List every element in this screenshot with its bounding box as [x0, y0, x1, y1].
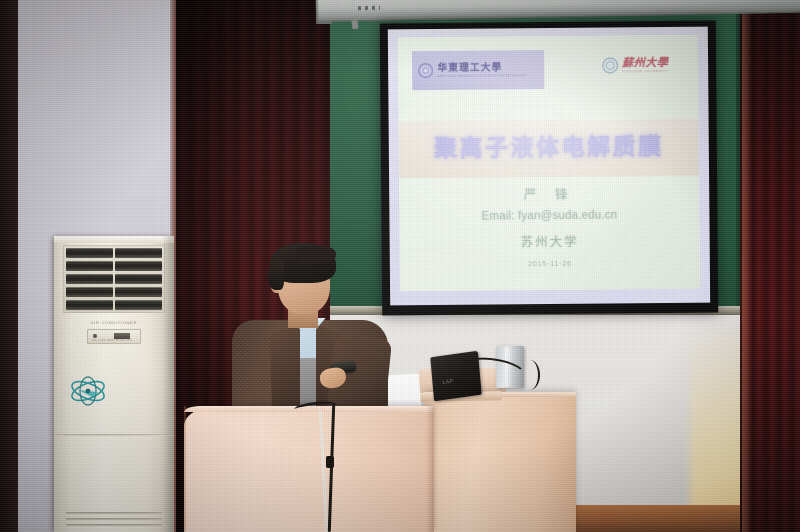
slide-email: Email: fyan@suda.edu.cn [481, 209, 617, 224]
university-logo-banner-left: 华東理工大學 EAST CHINA UNIVERSITY OF SCIENCE … [411, 50, 543, 91]
ac-top-edge [54, 236, 174, 243]
spiral-seal-icon [418, 63, 433, 78]
ac-louver [115, 287, 162, 297]
cable-clip [326, 456, 334, 468]
ac-bottom-vents [66, 506, 162, 526]
ac-vent-slat [66, 524, 162, 526]
ac-panel-seam [54, 434, 174, 436]
wooden-lectern [184, 406, 434, 532]
lectern-crease [184, 406, 186, 532]
housing-vent-dots [358, 6, 380, 10]
screen-surface: 华東理工大學 EAST CHINA UNIVERSITY OF SCIENCE … [388, 27, 710, 306]
circular-seal-icon [602, 58, 618, 74]
housing-mount-hook [351, 20, 358, 30]
floor-standing-air-conditioner: AIR CONDITIONER ON / OFF TEMP MODE FAN [54, 236, 174, 532]
power-led-icon [93, 334, 97, 338]
laptop-badge: LAP [442, 378, 453, 386]
ac-panel-labels: ON / OFF TEMP MODE FAN [92, 339, 138, 342]
logo-right-name-cn: 蘇州大學 [622, 57, 669, 69]
ac-louver [66, 300, 113, 310]
university-logo-right: 蘇州大學 SOOCHOW UNIVERSITY [602, 46, 695, 85]
ac-vent-slat [66, 518, 162, 520]
slide-title: 聚离子液体电解质膜 [434, 134, 664, 162]
slide-body-block: 严 锋 Email: fyan@suda.edu.cn 苏州大学 2015-11… [399, 187, 700, 270]
ac-control-panel[interactable]: ON / OFF TEMP MODE FAN [87, 329, 141, 344]
ac-louver [66, 274, 113, 284]
logo-right-name-en: SOOCHOW UNIVERSITY [622, 69, 668, 73]
logo-left-text: 华東理工大學 EAST CHINA UNIVERSITY OF SCIENCE … [438, 63, 528, 78]
slide-affiliation: 苏州大学 [521, 234, 579, 250]
curtain-highlight [742, 0, 752, 532]
slide-date: 2015-11-26 [528, 259, 572, 268]
ac-louver [115, 300, 162, 310]
ac-louver-column [66, 248, 113, 310]
jacket-lapel-left [270, 324, 300, 410]
logo-left-name-cn: 华東理工大學 [438, 63, 528, 74]
lectern-right-edge [426, 406, 434, 532]
logo-right-text: 蘇州大學 SOOCHOW UNIVERSITY [622, 57, 669, 73]
ac-louver-column [115, 248, 162, 310]
ac-louver [66, 287, 113, 297]
logo-left-name-en: EAST CHINA UNIVERSITY OF SCIENCE AND TEC… [438, 74, 528, 78]
ac-louver [66, 248, 113, 258]
projection-screen: 华東理工大學 EAST CHINA UNIVERSITY OF SCIENCE … [380, 21, 719, 316]
side-desk [424, 392, 576, 532]
ac-louver [115, 248, 162, 258]
atom-orbit-icon [68, 374, 108, 408]
lecture-hall-photograph: 华東理工大學 EAST CHINA UNIVERSITY OF SCIENCE … [0, 0, 800, 532]
ac-louver [115, 261, 162, 271]
ac-brand-text: AIR CONDITIONER [54, 320, 174, 325]
power-cable [520, 360, 540, 390]
projected-slide: 华東理工大學 EAST CHINA UNIVERSITY OF SCIENCE … [398, 35, 700, 292]
presenter-hair-side [268, 260, 284, 290]
ac-louver [115, 274, 162, 284]
slide-title-band: 聚离子液体电解质膜 [399, 119, 699, 179]
ac-vent-slat [66, 512, 162, 514]
ac-side-shading [162, 236, 174, 532]
ac-air-grille [63, 245, 165, 313]
slide-author: 严 锋 [524, 188, 575, 204]
ac-louver [66, 261, 113, 271]
